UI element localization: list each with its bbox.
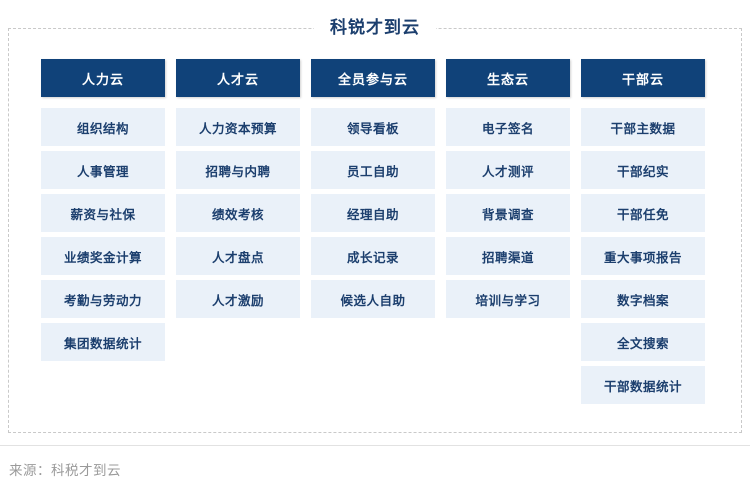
column-ganbuyun: 干部云 干部主数据 干部纪实 干部任免 重大事项报告 数字档案 全文搜索 干部数… [581, 59, 705, 409]
source-caption: 来源：科税才到云 [9, 459, 121, 479]
column-quanyuancanyuyun: 全员参与云 领导看板 员工自助 经理自助 成长记录 候选人自助 [311, 59, 435, 409]
module-cell[interactable]: 考勤与劳动力 [41, 280, 165, 318]
module-cell[interactable]: 数字档案 [581, 280, 705, 318]
module-cell[interactable]: 干部纪实 [581, 151, 705, 189]
footer-divider [0, 445, 750, 446]
module-cell[interactable]: 成长记录 [311, 237, 435, 275]
module-cell[interactable]: 人才测评 [446, 151, 570, 189]
module-cell[interactable]: 集团数据统计 [41, 323, 165, 361]
module-cell[interactable]: 培训与学习 [446, 280, 570, 318]
column-renliyun: 人力云 组织结构 人事管理 薪资与社保 业绩奖金计算 考勤与劳动力 集团数据统计 [41, 59, 165, 409]
column-header-rencaiyun[interactable]: 人才云 [176, 59, 300, 97]
module-cell[interactable]: 领导看板 [311, 108, 435, 146]
module-cell[interactable]: 招聘与内聘 [176, 151, 300, 189]
module-grid: 人力云 组织结构 人事管理 薪资与社保 业绩奖金计算 考勤与劳动力 集团数据统计… [41, 59, 709, 409]
column-header-ganbuyun[interactable]: 干部云 [581, 59, 705, 97]
module-cell[interactable]: 人才盘点 [176, 237, 300, 275]
module-cell[interactable]: 重大事项报告 [581, 237, 705, 275]
module-cell[interactable]: 绩效考核 [176, 194, 300, 232]
module-cell[interactable]: 业绩奖金计算 [41, 237, 165, 275]
module-cell[interactable]: 经理自助 [311, 194, 435, 232]
module-cell[interactable]: 候选人自助 [311, 280, 435, 318]
module-cell[interactable]: 背景调查 [446, 194, 570, 232]
module-cell[interactable]: 组织结构 [41, 108, 165, 146]
column-rencaiyun: 人才云 人力资本预算 招聘与内聘 绩效考核 人才盘点 人才激励 [176, 59, 300, 409]
module-cell[interactable]: 薪资与社保 [41, 194, 165, 232]
module-cell[interactable]: 招聘渠道 [446, 237, 570, 275]
module-cell[interactable]: 全文搜索 [581, 323, 705, 361]
diagram-canvas: 科锐才到云 人力云 组织结构 人事管理 薪资与社保 业绩奖金计算 考勤与劳动力 … [0, 0, 750, 496]
column-header-shengtaiyun[interactable]: 生态云 [446, 59, 570, 97]
column-header-renliyun[interactable]: 人力云 [41, 59, 165, 97]
module-cell[interactable]: 电子签名 [446, 108, 570, 146]
module-cell[interactable]: 干部主数据 [581, 108, 705, 146]
module-cell[interactable]: 人才激励 [176, 280, 300, 318]
column-header-quanyuancanyuyun[interactable]: 全员参与云 [311, 59, 435, 97]
module-cell[interactable]: 人事管理 [41, 151, 165, 189]
column-shengtaiyun: 生态云 电子签名 人才测评 背景调查 招聘渠道 培训与学习 [446, 59, 570, 409]
module-cell[interactable]: 员工自助 [311, 151, 435, 189]
module-cell[interactable]: 干部数据统计 [581, 366, 705, 404]
module-cell[interactable]: 人力资本预算 [176, 108, 300, 146]
module-cell[interactable]: 干部任免 [581, 194, 705, 232]
